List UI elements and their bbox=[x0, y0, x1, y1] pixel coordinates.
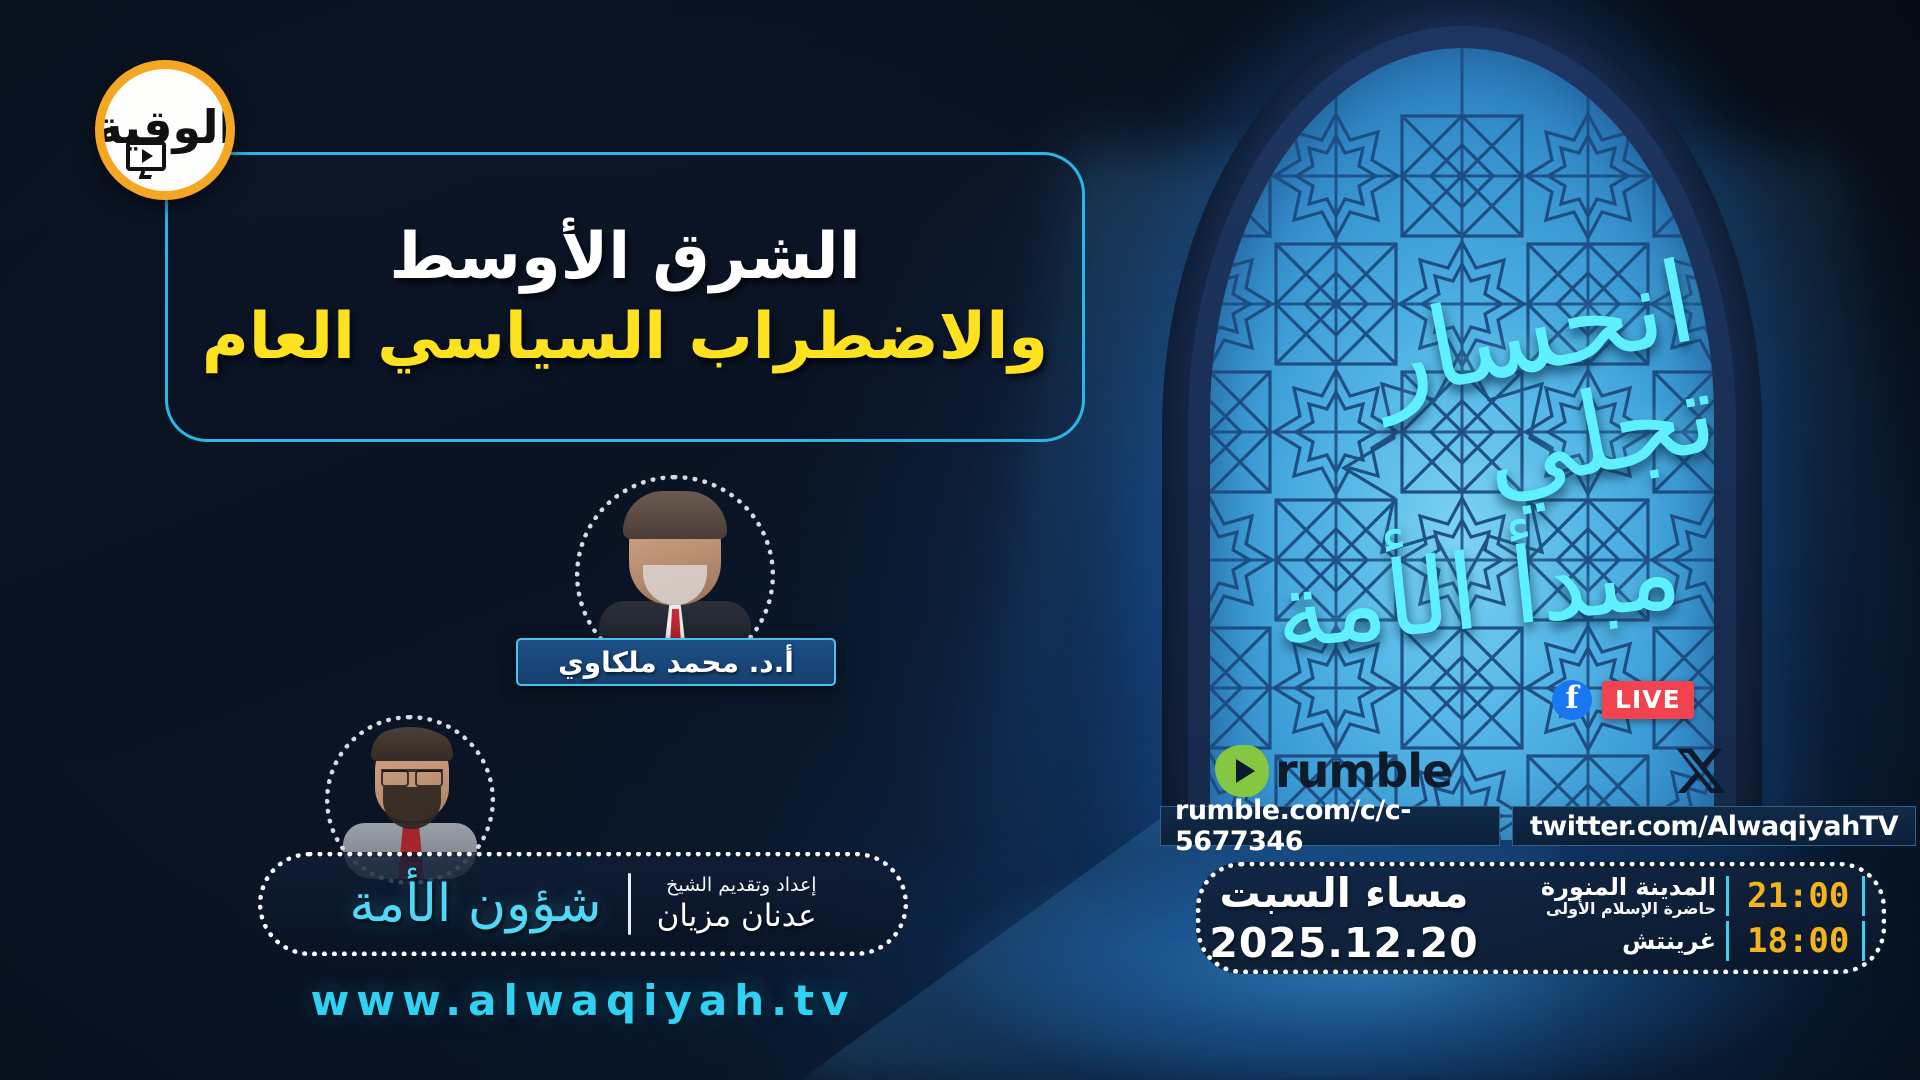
rumble-link[interactable]: rumble bbox=[1215, 744, 1452, 798]
banner-stage: انحسار تجلي مبدأ الأمة الوقية الشرق الأو… bbox=[0, 0, 1920, 1080]
tv-play-icon bbox=[126, 141, 166, 171]
live-label: LIVE bbox=[1602, 681, 1694, 719]
episode-title-line-2: والاضطراب السياسي العام bbox=[202, 300, 1048, 374]
schedule-separator-2 bbox=[1726, 921, 1729, 961]
schedule-location-1: المدينة المنورة حاضرة الإسلام الأولى bbox=[1541, 875, 1716, 918]
website-link[interactable]: www.alwaqiyah.tv bbox=[258, 970, 908, 1030]
guest-name: أ.د. محمد ملكاوي bbox=[558, 646, 794, 679]
episode-title-frame: الشرق الأوسط والاضطراب السياسي العام bbox=[165, 152, 1085, 442]
episode-title-line-1: الشرق الأوسط bbox=[389, 220, 860, 294]
channel-logo[interactable]: الوقية bbox=[95, 60, 235, 200]
islamic-geometric-pattern-icon bbox=[1210, 48, 1714, 840]
social-links-row: rumble rumble.com/c/c-5677346 twitter.co… bbox=[1160, 742, 1920, 852]
schedule-panel: مساء السبت 2025.12.20 المدينة المنورة حا… bbox=[1196, 862, 1886, 974]
website-url: www.alwaqiyah.tv bbox=[310, 976, 855, 1025]
arch-glass-panel: انحسار تجلي مبدأ الأمة bbox=[1210, 48, 1714, 840]
rumble-url-bar[interactable]: rumble.com/c/c-5677346 bbox=[1160, 806, 1500, 846]
schedule-time-2: 18:00 bbox=[1747, 921, 1865, 961]
schedule-date-block: مساء السبت 2025.12.20 bbox=[1201, 867, 1501, 969]
program-host-block: إعداد وتقديم الشيخ عدنان مزيان bbox=[657, 874, 817, 934]
tv-stand-icon bbox=[139, 171, 154, 179]
x-twitter-icon[interactable] bbox=[1672, 744, 1728, 800]
schedule-row: المدينة المنورة حاضرة الإسلام الأولى 21:… bbox=[1509, 875, 1865, 918]
guest-nameplate: أ.د. محمد ملكاوي bbox=[516, 638, 836, 686]
schedule-row: غرينتش 18:00 bbox=[1509, 921, 1865, 961]
facebook-live-badge[interactable]: f LIVE bbox=[1552, 680, 1694, 720]
schedule-location-name-1: المدينة المنورة bbox=[1541, 875, 1716, 900]
schedule-location-2: غرينتش bbox=[1622, 929, 1716, 954]
twitter-url: twitter.com/AlwaqiyahTV bbox=[1530, 811, 1898, 842]
program-plate: شؤون الأمة إعداد وتقديم الشيخ عدنان مزيا… bbox=[258, 852, 908, 956]
schedule-separator-1 bbox=[1726, 876, 1729, 916]
x-logo-glyph bbox=[1674, 746, 1726, 798]
program-name: شؤون الأمة bbox=[349, 874, 601, 934]
rumble-url: rumble.com/c/c-5677346 bbox=[1175, 795, 1485, 857]
schedule-location-name-2: غرينتش bbox=[1622, 929, 1716, 954]
rumble-wordmark: rumble bbox=[1275, 744, 1452, 798]
program-divider bbox=[628, 873, 631, 935]
host-name: عدنان مزيان bbox=[657, 898, 817, 934]
rumble-icon bbox=[1215, 745, 1269, 797]
schedule-date: 2025.12.20 bbox=[1209, 919, 1478, 967]
facebook-icon: f bbox=[1552, 680, 1592, 720]
host-role-label: إعداد وتقديم الشيخ bbox=[666, 874, 816, 896]
schedule-times-block: المدينة المنورة حاضرة الإسلام الأولى 21:… bbox=[1501, 867, 1881, 969]
twitter-url-bar[interactable]: twitter.com/AlwaqiyahTV bbox=[1512, 806, 1916, 846]
schedule-day: مساء السبت bbox=[1219, 869, 1468, 917]
schedule-location-note-1: حاضرة الإسلام الأولى bbox=[1546, 900, 1716, 918]
schedule-time-1: 21:00 bbox=[1747, 876, 1865, 916]
